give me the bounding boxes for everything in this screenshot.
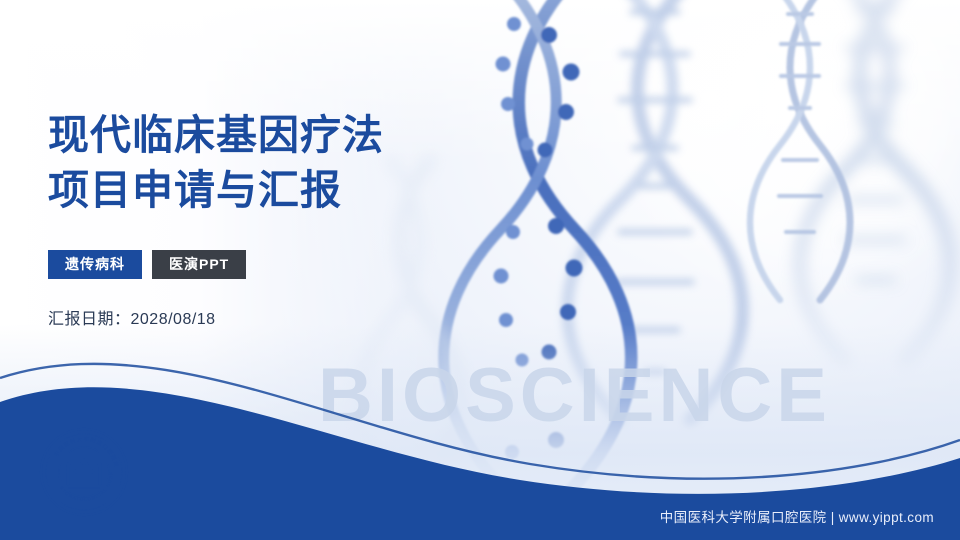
slide-title-line-2: 项目申请与汇报 <box>48 163 568 218</box>
svg-text:STOMATOLOGICAL HOSPITAL: STOMATOLOGICAL HOSPITAL <box>38 426 114 502</box>
slide-title-line-1: 现代临床基因疗法 <box>48 108 568 163</box>
hospital-logo: 中国医科大学附属口腔医院 STOMATOLOGICAL HOSPITAL <box>38 426 130 518</box>
title-block: 现代临床基因疗法 项目申请与汇报 遗传病科 医演PPT 汇报日期：2028/08… <box>48 108 568 329</box>
report-date: 汇报日期：2028/08/18 <box>48 305 568 329</box>
tag-group: 遗传病科 医演PPT <box>48 250 568 279</box>
tag-brand: 医演PPT <box>152 250 246 279</box>
footer-text: 中国医科大学附属口腔医院 | www.yippt.com <box>660 506 934 526</box>
presentation-slide: BIOSCIENCE 现代临床基因疗法 项目申请与汇报 遗传病科 医演PPT 汇… <box>0 0 960 540</box>
tag-department: 遗传病科 <box>48 250 142 279</box>
